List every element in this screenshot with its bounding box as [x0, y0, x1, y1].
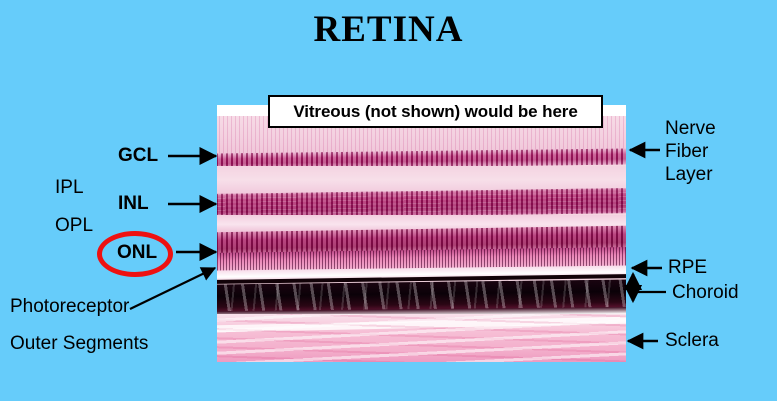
vitreous-callout-text: Vitreous (not shown) would be here — [293, 102, 577, 122]
page-title: RETINA — [0, 8, 777, 52]
label-onl: ONL — [117, 243, 157, 263]
label-gcl: GCL — [118, 146, 158, 166]
label-ipl: IPL — [55, 178, 84, 198]
label-rpe: RPE — [668, 258, 707, 278]
vitreous-callout-box: Vitreous (not shown) would be here — [268, 95, 603, 128]
label-choroid: Choroid — [672, 283, 739, 303]
layer-sclera-fibres — [217, 314, 626, 362]
label-inl: INL — [118, 194, 149, 214]
label-sclera: Sclera — [665, 331, 719, 351]
label-outer-segments: Outer Segments — [10, 334, 148, 354]
retina-micrograph — [217, 105, 626, 362]
slide-canvas: RETINA Vitreous (not shown) would be her… — [0, 0, 777, 401]
label-photoreceptor: Photoreceptor — [10, 297, 129, 317]
label-nerve-fiber-layer: Nerve Fiber Layer — [665, 117, 727, 186]
label-opl: OPL — [55, 216, 93, 236]
